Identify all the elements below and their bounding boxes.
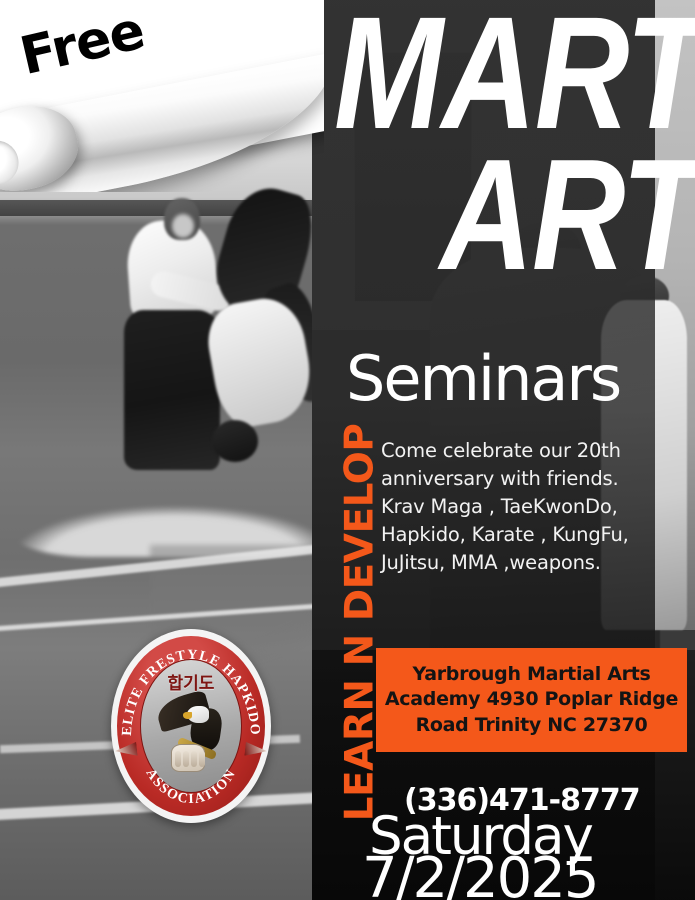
knuckle (183, 751, 189, 767)
vertical-slogan-text: LEARN N DEVELOP (338, 423, 383, 823)
title-line-2: ART (440, 148, 695, 284)
body-line: Krav Maga , TaeKwonDo, (381, 493, 649, 521)
subtitle-seminars: Seminars (346, 342, 620, 415)
body-line: JuJitsu, MMA ,weapons. (381, 549, 649, 577)
title-line-1: MARTIAL (334, 4, 695, 142)
body-line: Hapkido, Karate , KungFu, (381, 521, 649, 549)
paper-roll-opening (0, 136, 23, 189)
body-line: Come celebrate our 20th (381, 437, 649, 465)
logo-inner-field: 합기도 (140, 659, 242, 793)
head (212, 420, 258, 462)
eagle-beak (183, 712, 192, 719)
vertical-slogan: LEARN N DEVELOP (310, 420, 366, 820)
address-box: Yarbrough Martial Arts Academy 4930 Popl… (376, 648, 687, 752)
fist-icon (171, 744, 205, 772)
knuckle (191, 751, 197, 767)
martial-artist-falling (208, 188, 312, 488)
knuckle (175, 751, 181, 767)
hakama (124, 310, 220, 470)
body-copy: Come celebrate our 20th anniversary with… (381, 437, 649, 576)
body-line: anniversary with friends. (381, 465, 649, 493)
address-line: Yarbrough Martial Arts (412, 663, 650, 685)
face (172, 214, 194, 238)
address-line: Road Trinity NC 27370 (416, 714, 648, 736)
hapkido-association-logo: 합기도 ELITE FRESTYLE HAPKI (111, 629, 271, 823)
martial-art-seminar-flyer: MARTIAL ART Seminars Come celebrate our … (0, 0, 695, 900)
knuckle (199, 751, 205, 767)
event-date: 7/2/2025 (362, 846, 598, 900)
address-text: Yarbrough Martial Arts Academy 4930 Popl… (385, 662, 678, 739)
peeled-paper-corner: Free (0, 0, 324, 192)
address-line: Academy 4930 Poplar Ridge (385, 688, 678, 710)
korean-hapkido-text: 합기도 (141, 669, 241, 694)
